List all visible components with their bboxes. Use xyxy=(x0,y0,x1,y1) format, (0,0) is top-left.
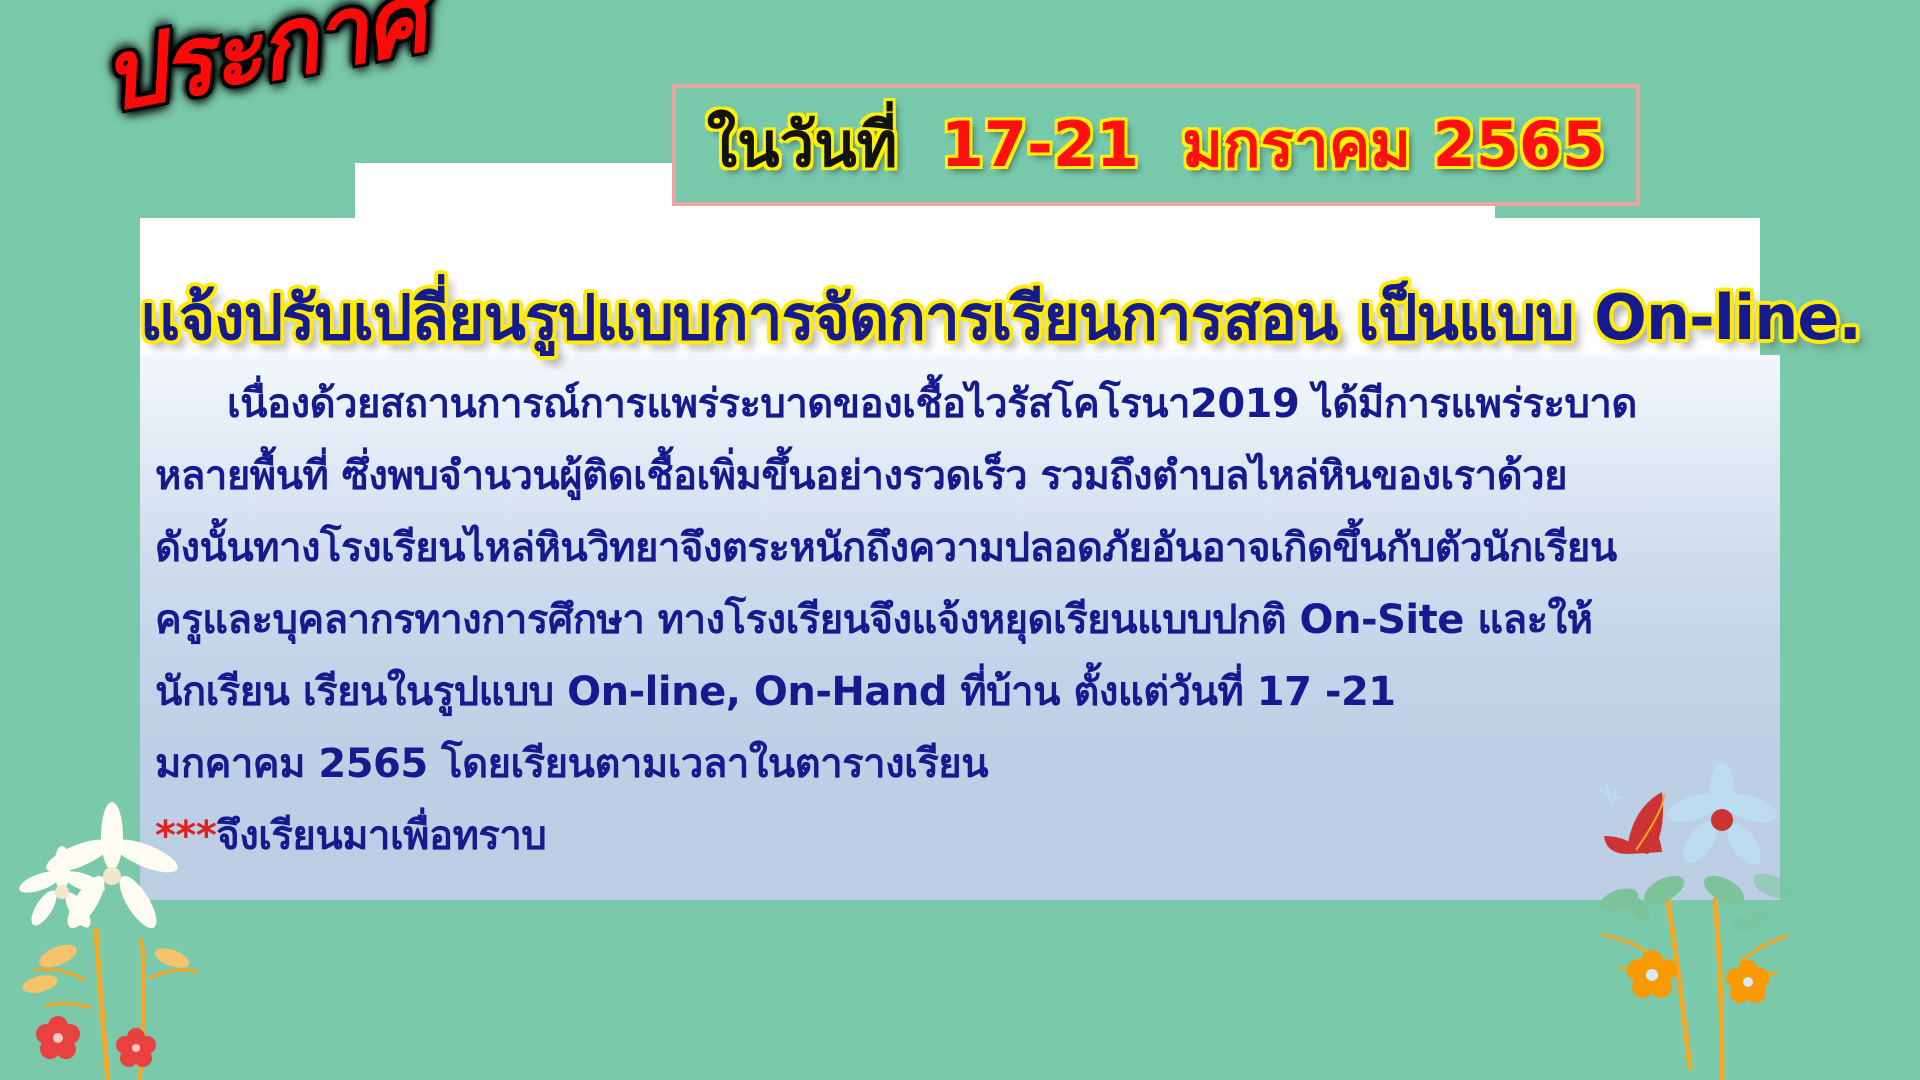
body-line: นักเรียน เรียนในรูปแบบ On-line, On-Hand … xyxy=(155,656,1765,728)
announcement-poster: ประกาศ ในวันที่ 17-21 มกราคม 2565 แจ้งปร… xyxy=(0,0,1920,1080)
date-range-label: 17-21 xyxy=(941,108,1139,181)
date-banner-text: ในวันที่ 17-21 มกราคม 2565 xyxy=(707,114,1605,176)
body-line: ดังนั้นทางโรงเรียนไหล่หินวิทยาจึงตระหนัก… xyxy=(155,512,1765,584)
body-closing-line: ***จึงเรียนมาเพื่อทราบ xyxy=(155,800,1765,872)
date-prefix-label: ในวันที่ xyxy=(707,108,898,181)
body-line: เนื่องด้วยสถานการณ์การแพร่ระบาดของเชื้อไ… xyxy=(155,368,1765,440)
page-title: แจ้งปรับเปลี่ยนรูปแบบการจัดการเรียนการสอ… xyxy=(140,279,1780,357)
proclaim-heading-label: ประกาศ xyxy=(94,0,642,126)
body-text: เนื่องด้วยสถานการณ์การแพร่ระบาดของเชื้อไ… xyxy=(155,368,1765,872)
date-month-year-label: มกราคม 2565 xyxy=(1182,108,1605,181)
body-line: มกคาคม 2565 โดยเรียนตามเวลาในตารางเรียน xyxy=(155,728,1765,800)
body-panel-left-edge xyxy=(133,355,140,900)
body-line: ครูและบุคลากรทางการศึกษา ทางโรงเรียนจึงแ… xyxy=(155,584,1765,656)
page-title-label: แจ้งปรับเปลี่ยนรูปแบบการจัดการเรียนการสอ… xyxy=(140,287,1861,349)
body-line: หลายพื้นที่ ซึ่งพบจำนวนผู้ติดเชื้อเพิ่มข… xyxy=(155,440,1765,512)
closing-stars: *** xyxy=(155,813,216,859)
closing-label: จึงเรียนมาเพื่อทราบ xyxy=(216,813,546,859)
date-banner: ในวันที่ 17-21 มกราคม 2565 xyxy=(672,84,1640,206)
